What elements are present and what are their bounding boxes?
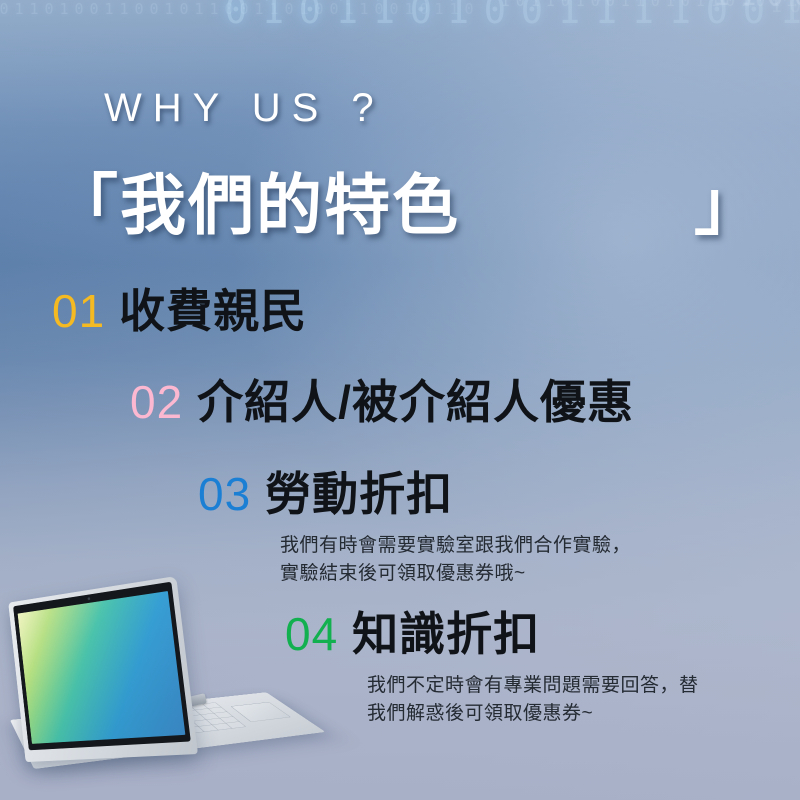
feature-label: 勞動折扣 bbox=[265, 458, 453, 524]
feature-description-line: 我們解惑後可領取優惠券~ bbox=[367, 700, 699, 728]
feature-item-02: 02 介紹人/被介紹人優惠 bbox=[130, 366, 634, 432]
feature-description-line: 我們有時會需要實驗室跟我們合作實驗， bbox=[280, 532, 631, 560]
feature-number: 04 bbox=[285, 607, 338, 661]
title-open-bracket: 「 bbox=[52, 168, 120, 242]
binary-column: 0 1 1 0 1 0 0 1 1 0 0 1 0 1 1 0 0 1 1 0 … bbox=[0, 0, 476, 21]
feature-heading: 01 收費親民 bbox=[52, 275, 307, 341]
title-label: 我們的特色 bbox=[120, 168, 460, 242]
feature-description: 我們不定時會有專業問題需要回答，替 我們解惑後可領取優惠券~ bbox=[367, 672, 699, 727]
feature-heading: 02 介紹人/被介紹人優惠 bbox=[130, 366, 634, 432]
feature-heading: 03 勞動折扣 bbox=[198, 458, 631, 524]
feature-item-01: 01 收費親民 bbox=[52, 275, 307, 341]
title-close-bracket: 」 bbox=[694, 152, 760, 248]
feature-label: 知識折扣 bbox=[352, 598, 540, 664]
laptop-webcam-icon bbox=[87, 597, 90, 600]
feature-number: 03 bbox=[198, 467, 251, 521]
poster-canvas: 0 1 1 0 1 0 0 1 1 0 0 1 0 1 1 0 0 1 1 0 … bbox=[0, 0, 800, 800]
page-title-text: 「我們的特色 bbox=[52, 152, 460, 248]
feature-number: 01 bbox=[52, 284, 105, 338]
feature-description-line: 實驗結束後可領取優惠券哦~ bbox=[280, 560, 631, 588]
page-title: 「我們的特色 」 bbox=[52, 152, 768, 248]
binary-column: 1 1 0 1 0 1 1 0 0 1 0 1 0 0 1 1 1 1 0 1 … bbox=[708, 0, 800, 17]
binary-column: 1 0 1 1 1 0 0 1 1 0 1 0 0 1 0 1 1 0 1 1 … bbox=[766, 0, 800, 20]
feature-number: 02 bbox=[130, 375, 183, 429]
binary-column: 0 1 1 0 1 0 1 1 0 0 1 0 1 1 0 1 0 1 1 0 … bbox=[497, 0, 800, 13]
laptop-illustration bbox=[0, 572, 286, 800]
binary-column: 1 1 0 0 1 0 1 1 0 1 0 1 0 0 1 1 1 1 0 0 … bbox=[217, 0, 800, 39]
feature-item-03: 03 勞動折扣 我們有時會需要實驗室跟我們合作實驗， 實驗結束後可領取優惠券哦~ bbox=[198, 458, 631, 587]
laptop-trackpad bbox=[230, 702, 291, 722]
feature-label: 介紹人/被介紹人優惠 bbox=[197, 366, 634, 432]
feature-description-line: 我們不定時會有專業問題需要回答，替 bbox=[367, 672, 699, 700]
binary-column: 0 0 1 0 1 1 0 1 0 0 1 1 0 1 1 0 0 0 1 0 … bbox=[428, 0, 800, 8]
feature-label: 收費親民 bbox=[119, 275, 307, 341]
page-eyebrow: WHY US ? bbox=[104, 86, 385, 131]
feature-item-04: 04 知識折扣 我們不定時會有專業問題需要回答，替 我們解惑後可領取優惠券~ bbox=[285, 598, 699, 727]
feature-heading: 04 知識折扣 bbox=[285, 598, 699, 664]
laptop-bezel bbox=[13, 582, 191, 751]
laptop-screen bbox=[18, 591, 186, 744]
laptop-lid bbox=[8, 576, 198, 762]
laptop-screen-gloss bbox=[18, 591, 186, 744]
feature-description: 我們有時會需要實驗室跟我們合作實驗， 實驗結束後可領取優惠券哦~ bbox=[280, 532, 631, 587]
